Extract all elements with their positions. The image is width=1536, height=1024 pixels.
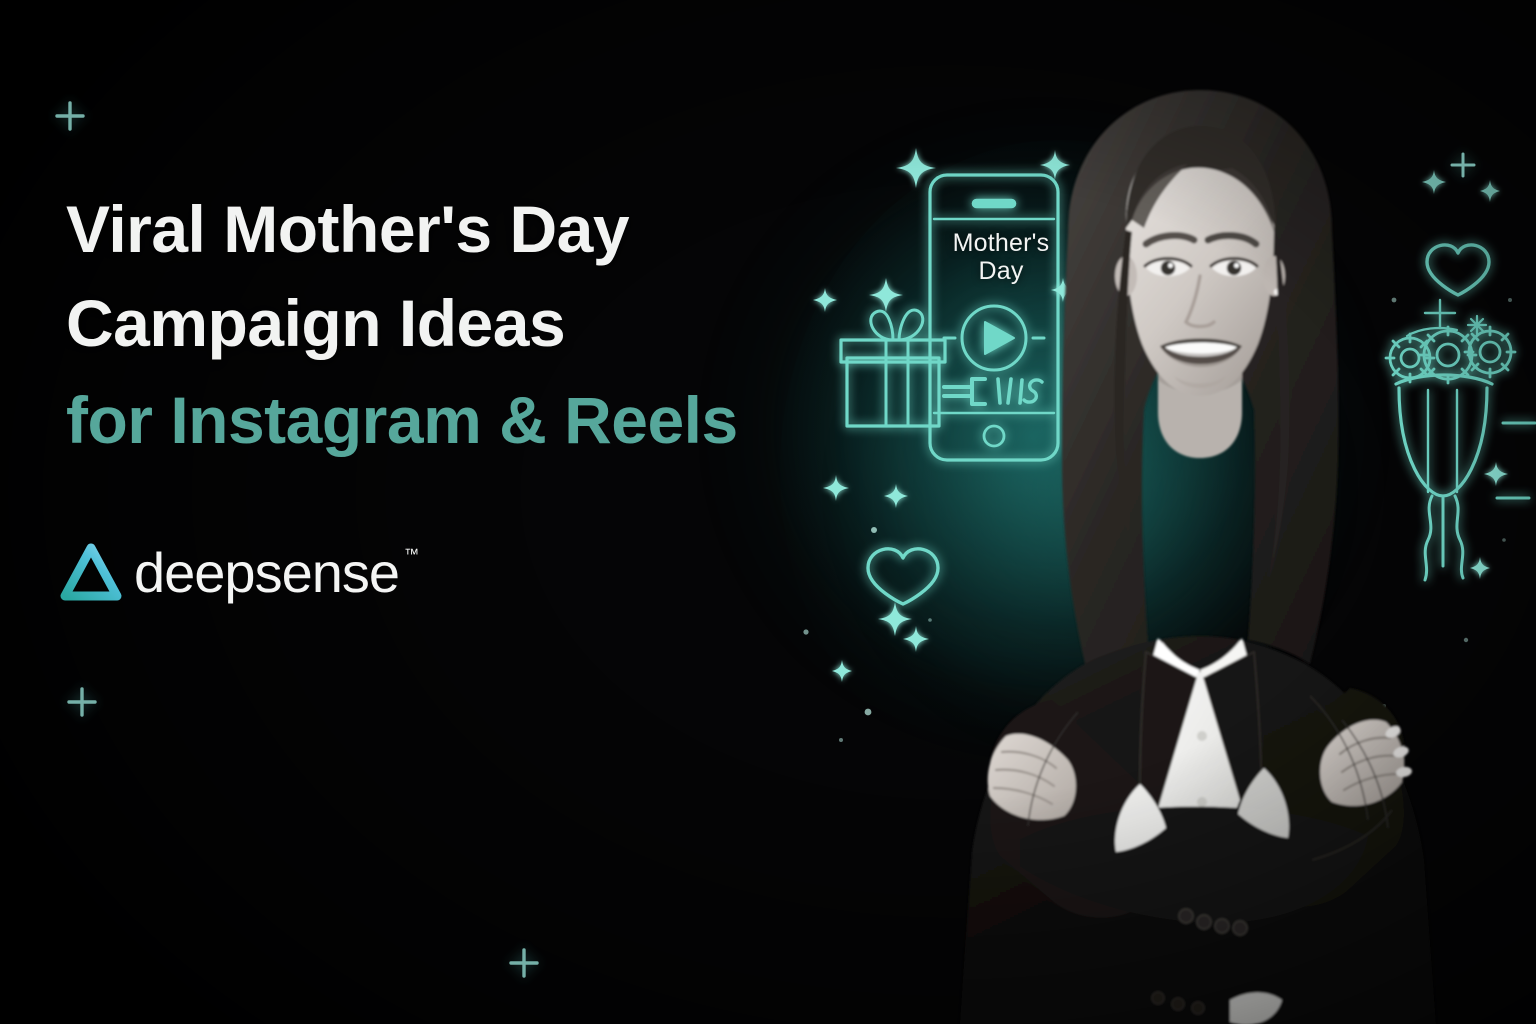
plus-mark-top-left [54, 100, 86, 132]
subtitle: for Instagram & Reels [66, 387, 826, 454]
headline-block: Viral Mother's Day Campaign Ideas for In… [66, 196, 826, 454]
plus-mark-bottom-center [508, 947, 540, 979]
headline-line-1: Viral Mother's Day [66, 192, 629, 266]
deepsense-triangle-icon [54, 538, 128, 608]
plus-mark-mid-left [66, 686, 98, 718]
brand-logo[interactable]: deepsense™ [54, 538, 419, 608]
trademark-symbol: ™ [404, 547, 419, 562]
plus-mark-top-right [1449, 151, 1477, 179]
page-title: Viral Mother's Day Campaign Ideas [66, 196, 826, 358]
deepsense-wordmark: deepsense™ [134, 545, 419, 601]
headline-line-2: Campaign Ideas [66, 290, 826, 357]
marketing-banner: Mother's Day [0, 0, 1536, 1024]
logo-text: deepsense [134, 541, 399, 604]
portrait-photo [840, 60, 1536, 1024]
